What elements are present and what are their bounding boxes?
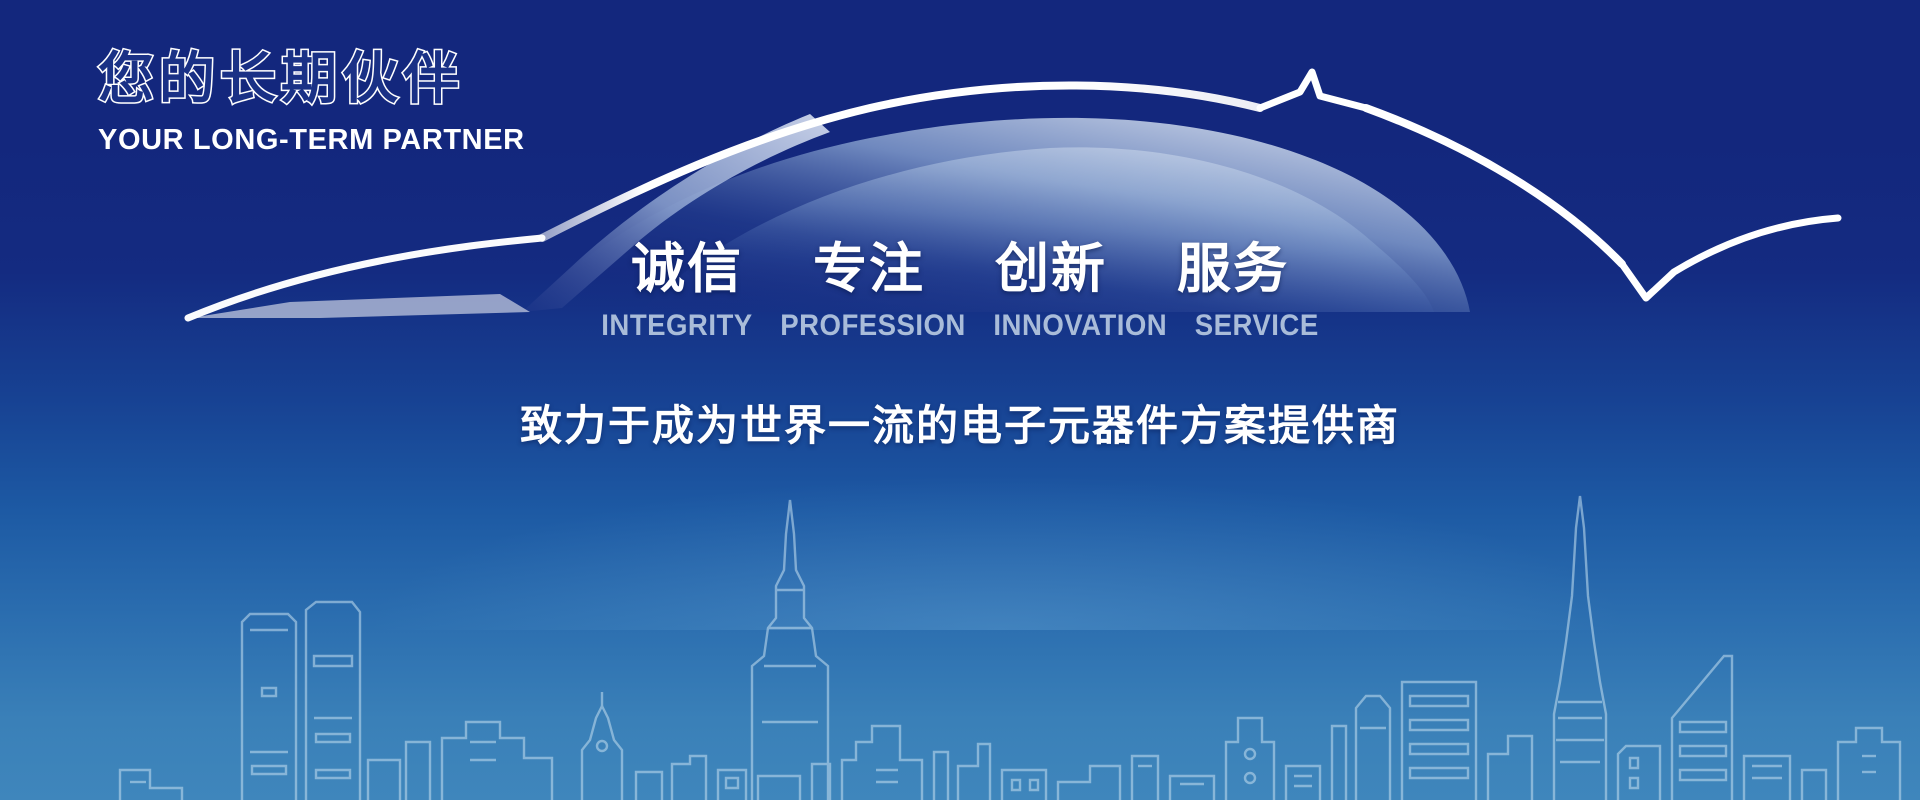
city-skyline xyxy=(0,470,1920,800)
slogan-block: 诚信 专注 创新 服务 INTEGRITY PROFESSION INNOVAT… xyxy=(0,240,1920,343)
value-cn-profession: 专注 xyxy=(813,240,925,297)
value-en-service: SERVICE xyxy=(1195,309,1319,343)
value-cn-service: 服务 xyxy=(1177,240,1289,297)
value-cn-integrity: 诚信 xyxy=(631,240,743,297)
core-values-chinese: 诚信 专注 创新 服务 xyxy=(0,240,1920,297)
core-values-english: INTEGRITY PROFESSION INNOVATION SERVICE xyxy=(77,309,1843,343)
promo-banner: 您的长期伙伴 YOUR LONG-TERM PARTNER 诚信 专注 创新 服… xyxy=(0,0,1920,800)
value-en-integrity: INTEGRITY xyxy=(601,309,752,343)
headline-block: 您的长期伙伴 YOUR LONG-TERM PARTNER xyxy=(98,52,525,157)
value-en-profession: PROFESSION xyxy=(780,309,966,343)
value-cn-innovation: 创新 xyxy=(995,240,1107,297)
headline-english: YOUR LONG-TERM PARTNER xyxy=(98,124,525,157)
value-en-innovation: INNOVATION xyxy=(993,309,1167,343)
company-tagline: 致力于成为世界一流的电子元器件方案提供商 xyxy=(0,392,1920,453)
headline-chinese: 您的长期伙伴 xyxy=(98,52,525,108)
